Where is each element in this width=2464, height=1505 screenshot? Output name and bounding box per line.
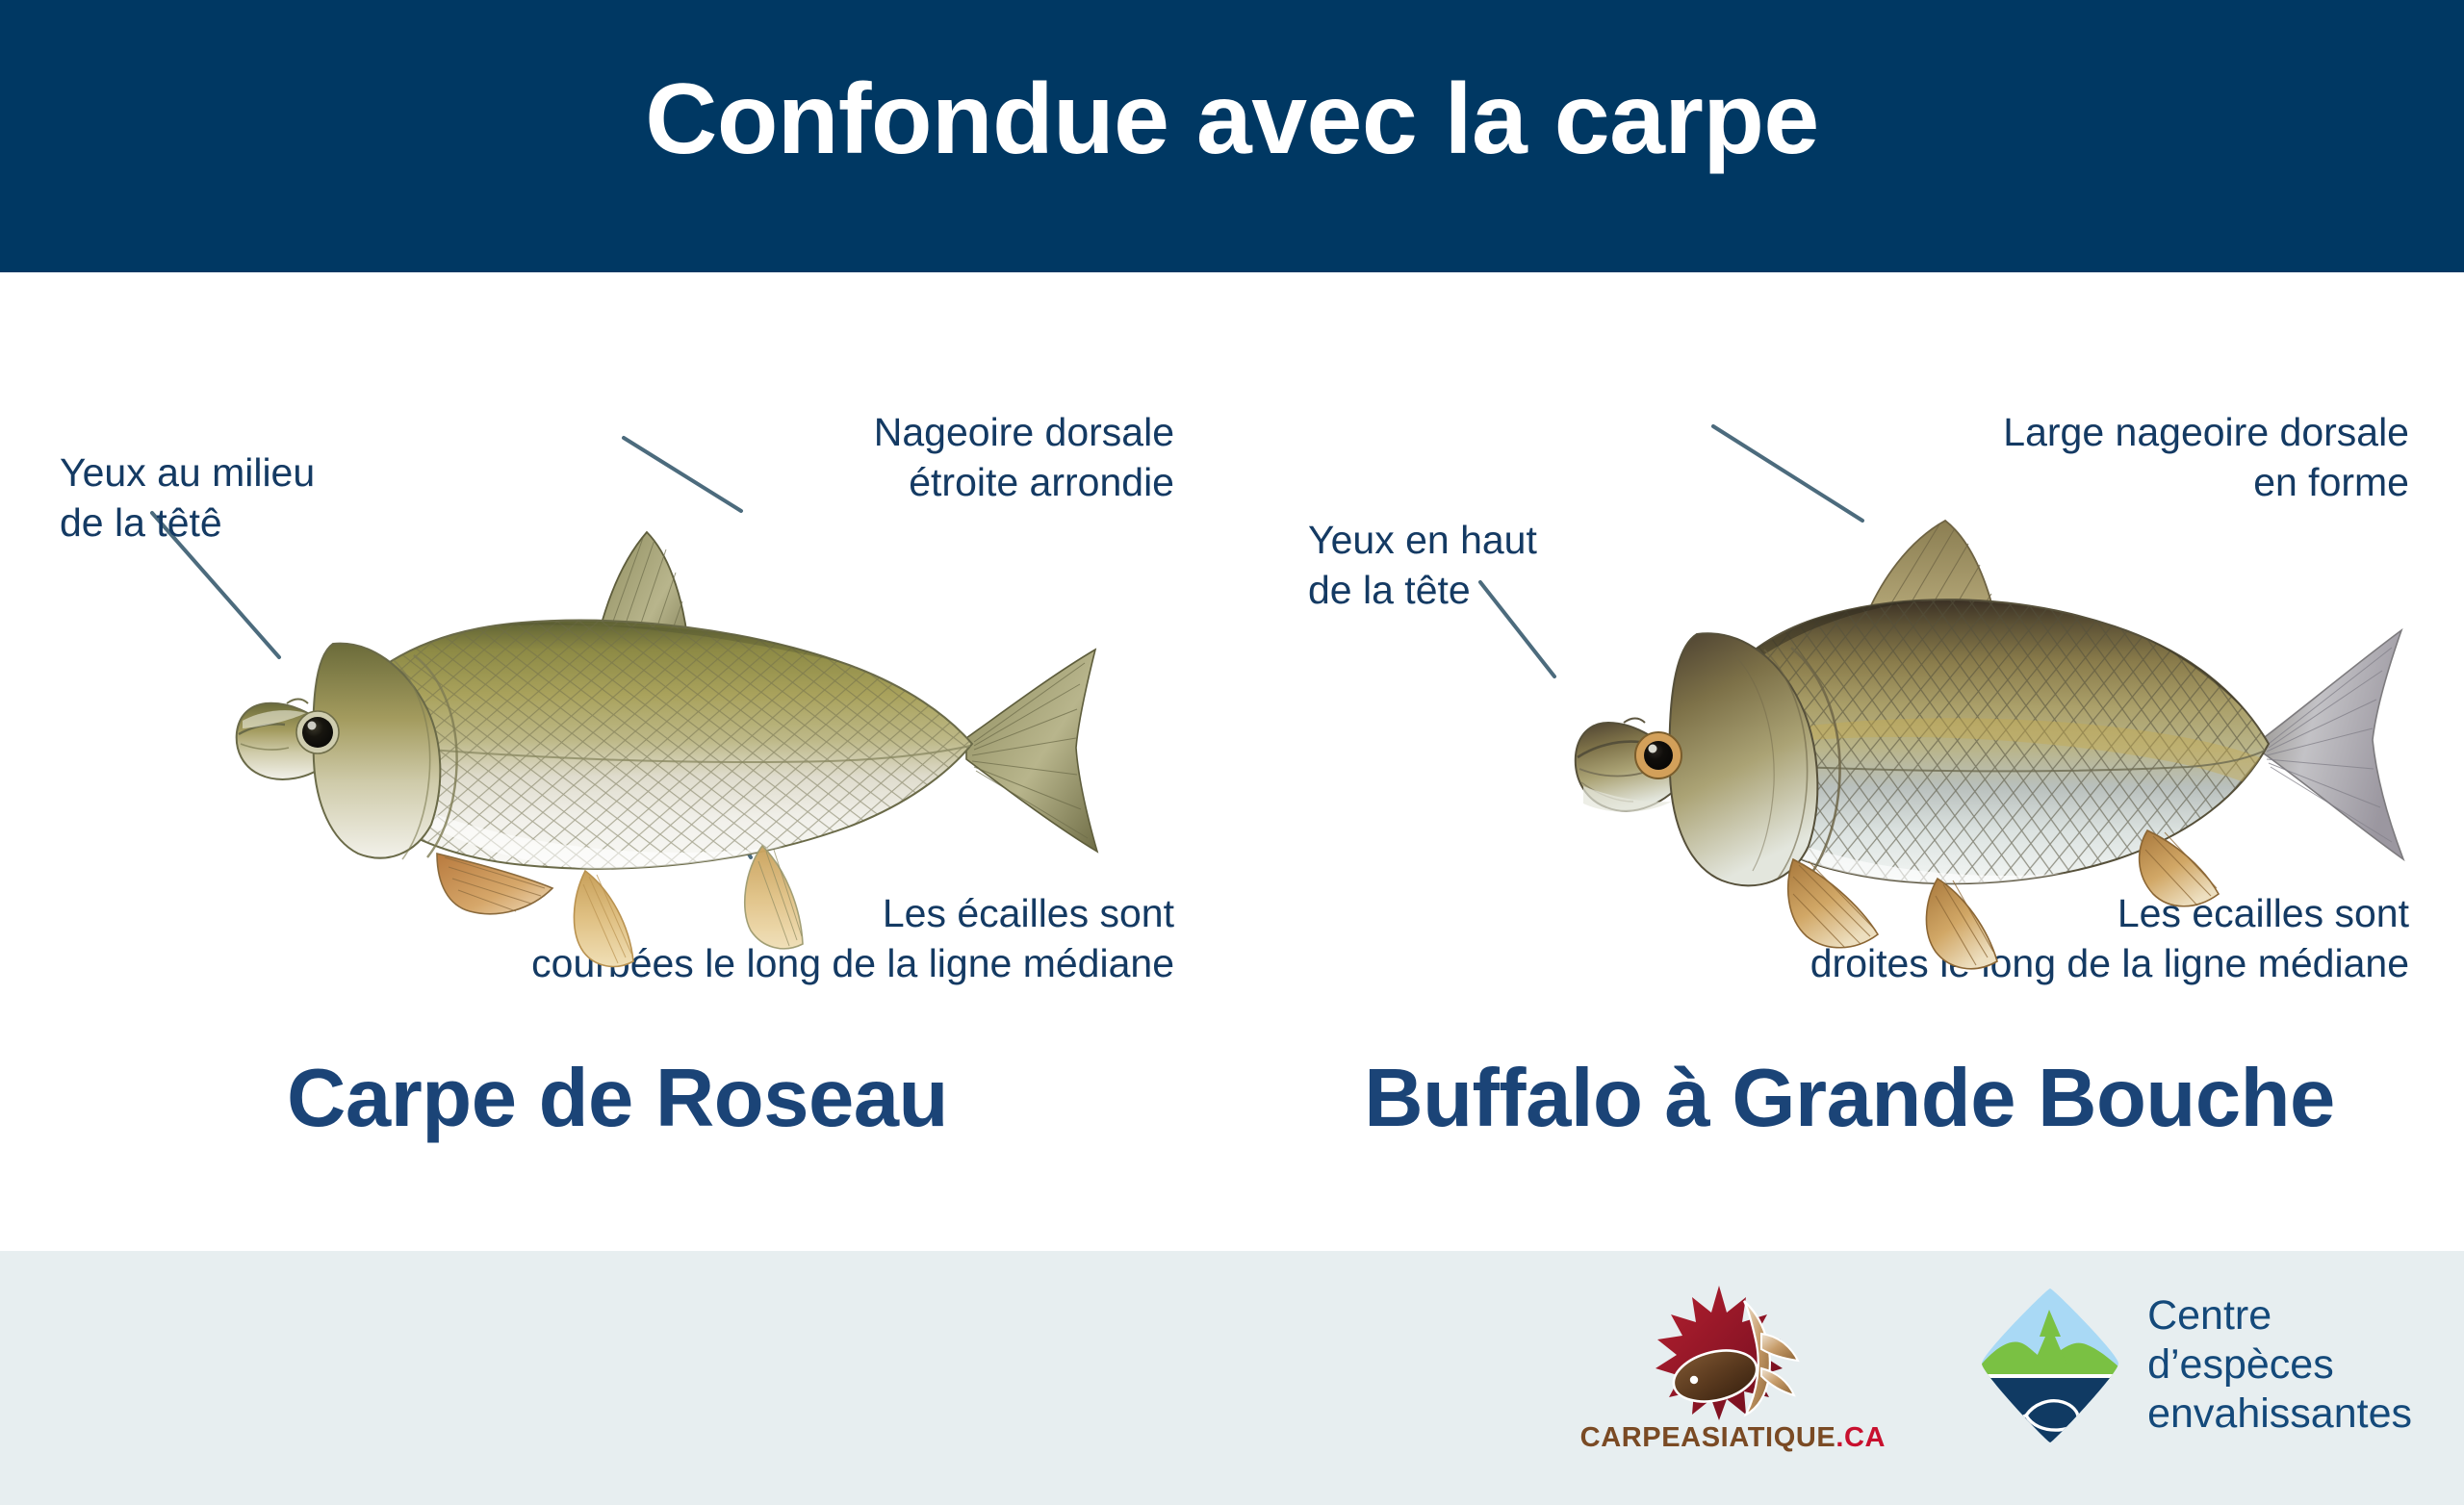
logo-text-tld: .CA	[1835, 1422, 1886, 1453]
main-content: Yeux au milieu de la têtê Nageoire dorsa…	[0, 272, 2464, 1251]
grass-carp-illustration	[214, 486, 1128, 1006]
page-title: Confondue avec la carpe	[0, 69, 2464, 169]
species-name-right: Buffalo à Grande Bouche	[1235, 1052, 2464, 1146]
infographic-page: Confondue avec la carpe Yeux au mi	[0, 0, 2464, 1505]
panel-grass-carp: Yeux au milieu de la têtê Nageoire dorsa…	[0, 272, 1235, 1251]
centre-especes-envahissantes-logo-text: Centre d’espèces envahissantes	[2147, 1291, 2412, 1438]
species-name-left: Carpe de Roseau	[0, 1052, 1235, 1146]
logo-text-main: CARPEASIATIQUE	[1580, 1422, 1836, 1453]
footer-band: CARPEASIATIQUE.CA	[0, 1251, 2464, 1505]
carpeasiatique-logo[interactable]: CARPEASIATIQUE.CA	[1580, 1276, 1886, 1454]
maple-leaf-carp-icon	[1627, 1276, 1838, 1420]
bigmouth-buffalo-illustration	[1553, 476, 2419, 1006]
centre-especes-envahissantes-logo[interactable]: Centre d’espèces envahissantes	[1978, 1285, 2412, 1446]
carpeasiatique-logo-text: CARPEASIATIQUE.CA	[1580, 1422, 1886, 1454]
footer-logos: CARPEASIATIQUE.CA	[1580, 1276, 2412, 1454]
diamond-landscape-fish-icon	[1978, 1285, 2122, 1446]
panel-bigmouth-buffalo: Yeux en haut de la tête Large nageoire d…	[1235, 272, 2464, 1251]
header-band: Confondue avec la carpe	[0, 0, 2464, 272]
